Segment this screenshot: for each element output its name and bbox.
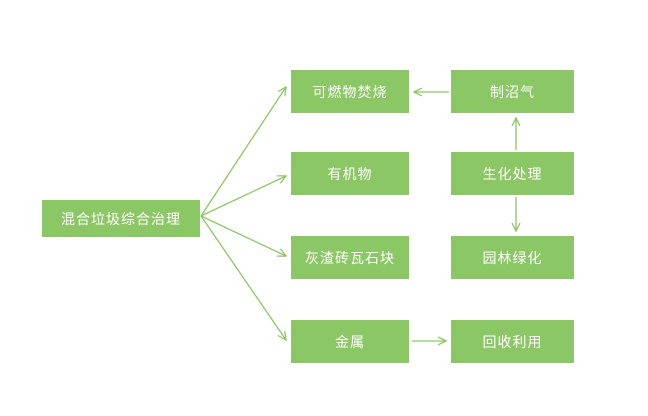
node-label: 灰渣砖瓦石块 — [305, 251, 395, 265]
edge-source-to-ash — [201, 216, 286, 256]
edge-source-to-combustible — [201, 87, 286, 216]
node-label: 混合垃圾综合治理 — [61, 212, 181, 226]
node-metal[interactable]: 金属 — [291, 320, 409, 363]
node-label: 制沼气 — [490, 85, 535, 99]
node-recycling-reuse[interactable]: 回收利用 — [451, 320, 574, 363]
node-label: 有机物 — [328, 167, 373, 181]
node-organic-matter[interactable]: 有机物 — [291, 152, 409, 195]
node-biogas-production[interactable]: 制沼气 — [451, 70, 574, 113]
edge-source-to-metal — [201, 216, 286, 340]
node-landscaping[interactable]: 园林绿化 — [451, 236, 574, 279]
node-mixed-waste-treatment[interactable]: 混合垃圾综合治理 — [42, 200, 200, 237]
node-ash-brick-tile-stone[interactable]: 灰渣砖瓦石块 — [291, 236, 409, 279]
node-label: 生化处理 — [483, 167, 543, 181]
flowchart-canvas: 混合垃圾综合治理 可燃物焚烧 有机物 灰渣砖瓦石块 金属 制沼气 生化处理 园林… — [0, 0, 648, 416]
node-label: 回收利用 — [483, 335, 543, 349]
node-label: 园林绿化 — [483, 251, 543, 265]
edge-source-to-organic — [201, 176, 286, 216]
node-combustible-incineration[interactable]: 可燃物焚烧 — [291, 70, 409, 113]
node-biochemical-treatment[interactable]: 生化处理 — [451, 152, 574, 195]
node-label: 可燃物焚烧 — [313, 85, 388, 99]
node-label: 金属 — [335, 335, 365, 349]
